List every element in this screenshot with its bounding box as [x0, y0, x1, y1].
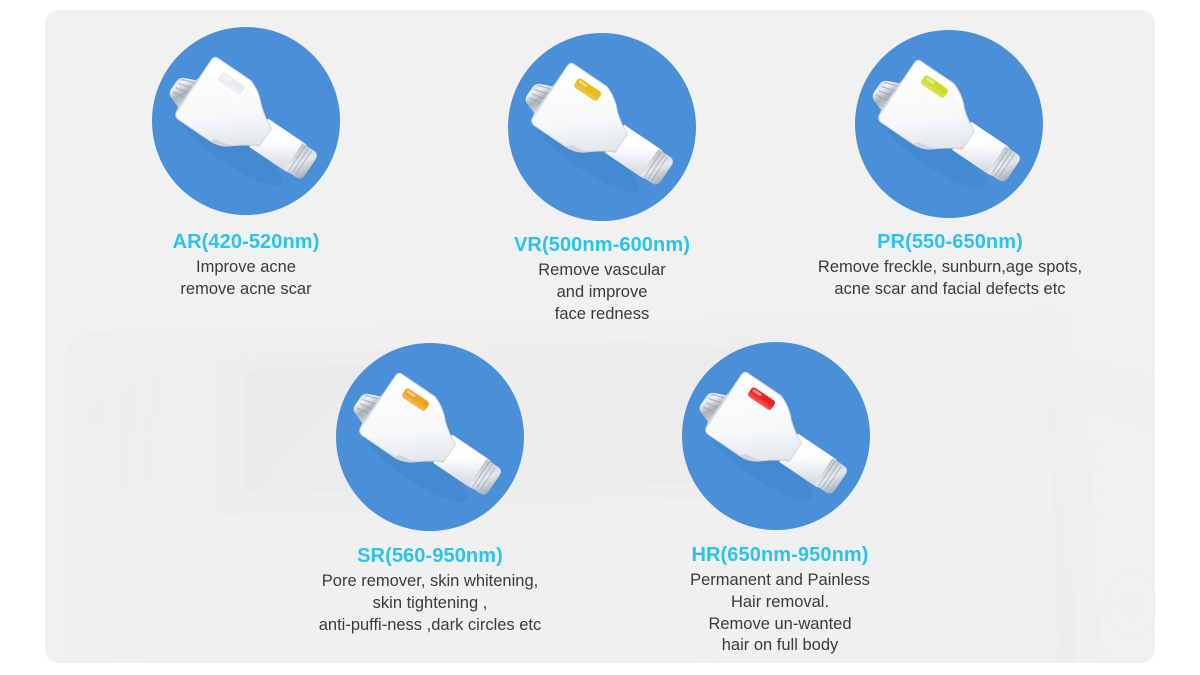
content-panel: AR(420-520nm)Improve acne remove acne sc…	[45, 10, 1155, 663]
feature-description-vr: Remove vascular and improve face redness	[452, 260, 752, 325]
feature-title-vr: VR(500nm-600nm)	[452, 233, 752, 257]
machine-vent-2-icon	[1055, 628, 1107, 663]
feature-caption-sr: SR(560-950nm)Pore remover, skin whitenin…	[272, 544, 588, 636]
machine-left-handpiece2-icon	[93, 428, 205, 496]
feature-circle-sr[interactable]	[336, 343, 524, 531]
feature-circle-hr[interactable]	[682, 342, 870, 530]
feature-description-ar: Improve acne remove acne scar	[96, 257, 396, 301]
machine-right-handpiece-icon	[1052, 351, 1155, 439]
machine-right-arm-icon	[1045, 354, 1101, 663]
machine-left-handpiece-icon	[80, 363, 210, 450]
feature-caption-hr: HR(650nm-950nm)Permanent and Painless Ha…	[630, 543, 930, 657]
feature-circle-vr[interactable]	[508, 33, 696, 221]
machine-left-arm-icon	[109, 361, 161, 662]
feature-title-sr: SR(560-950nm)	[272, 544, 588, 568]
machine-cable-icon	[1064, 439, 1109, 655]
feature-description-sr: Pore remover, skin whitening, skin tight…	[272, 571, 588, 636]
feature-description-hr: Permanent and Painless Hair removal. Rem…	[630, 570, 930, 657]
feature-caption-vr: VR(500nm-600nm)Remove vascular and impro…	[452, 233, 752, 325]
handpiece-illustration	[152, 27, 340, 215]
handpiece-illustration	[508, 33, 696, 221]
feature-title-pr: PR(550-650nm)	[780, 230, 1120, 254]
feature-circle-pr[interactable]	[855, 30, 1043, 218]
feature-caption-ar: AR(420-520nm)Improve acne remove acne sc…	[96, 230, 396, 301]
handpiece-illustration	[682, 342, 870, 530]
handpiece-illustration	[855, 30, 1043, 218]
feature-title-ar: AR(420-520nm)	[96, 230, 396, 254]
handpiece-illustration	[336, 343, 524, 531]
machine-vent-1-icon	[1105, 570, 1155, 640]
feature-circle-ar[interactable]	[152, 27, 340, 215]
feature-caption-pr: PR(550-650nm)Remove freckle, sunburn,age…	[780, 230, 1120, 301]
feature-description-pr: Remove freckle, sunburn,age spots, acne …	[780, 257, 1120, 301]
feature-title-hr: HR(650nm-950nm)	[630, 543, 930, 567]
